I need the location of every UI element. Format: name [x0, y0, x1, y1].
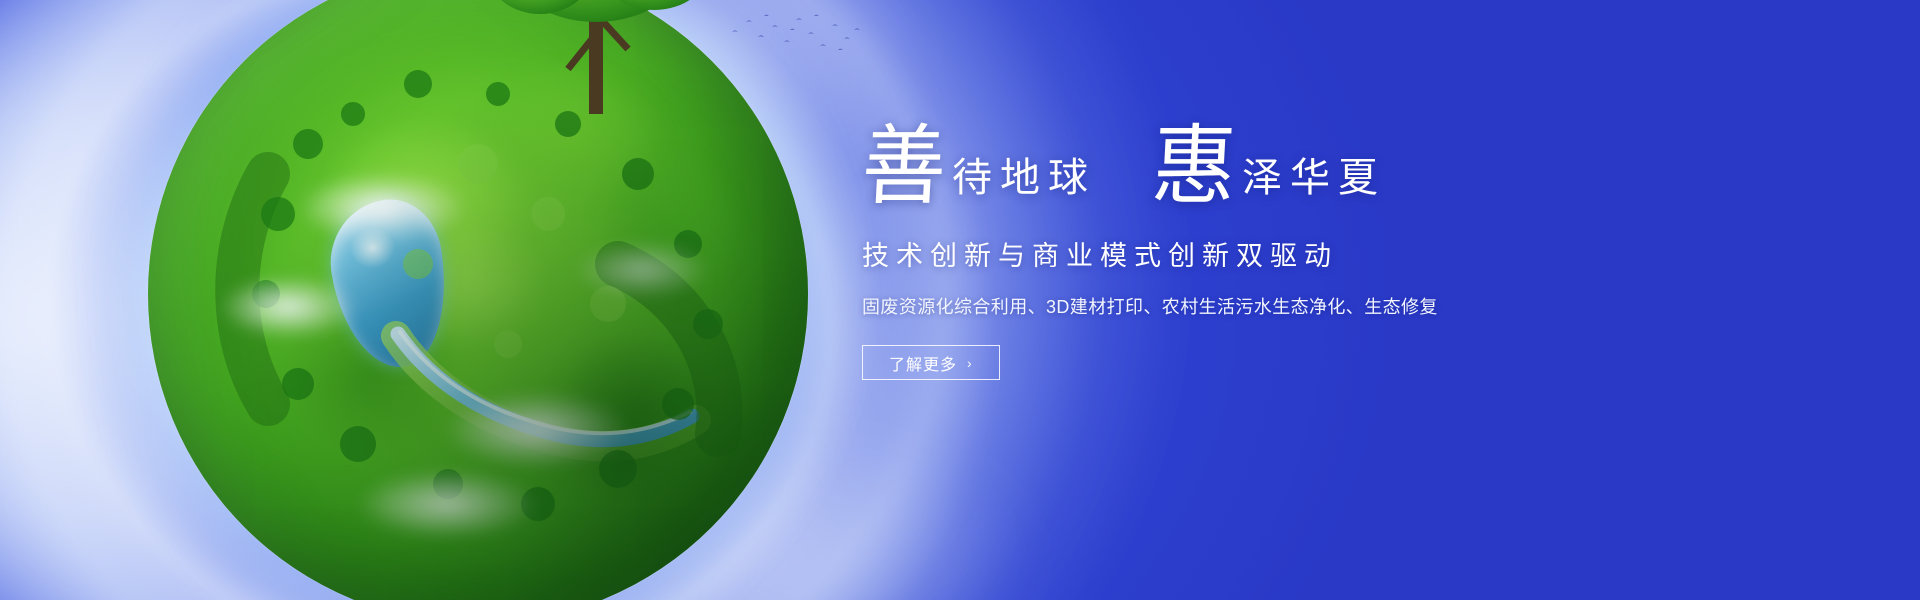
learn-more-label: 了解更多 [889, 351, 957, 375]
planet-cloud [268, 160, 498, 256]
chevron-right-icon: › [967, 356, 973, 370]
page-title: 善 待地球 惠 泽华夏 [862, 120, 1842, 204]
bird-flock-icon [728, 12, 868, 58]
hero-banner: 善 待地球 惠 泽华夏 技术创新与商业模式创新双驱动 固废资源化综合利用、3D建… [0, 0, 1920, 600]
planet-cloud [412, 378, 662, 482]
headline-char-hui: 惠 [1150, 124, 1239, 211]
banner-subtitle: 技术创新与商业模式创新双驱动 [862, 234, 1842, 273]
learn-more-button[interactable]: 了解更多 › [862, 345, 1000, 380]
grass-patch [228, 264, 508, 494]
headline-text-daidiqiu: 待地球 [952, 158, 1096, 198]
grass-patch [508, 294, 768, 544]
planet-cloud [194, 264, 384, 350]
grass-patch [278, 84, 578, 314]
planet-cloud [328, 458, 568, 550]
tiny-planet-illustration [148, 0, 808, 600]
grass-patch [568, 124, 768, 334]
headline-char-shan: 善 [860, 124, 949, 211]
planet-cloud [552, 232, 732, 308]
grass-patch [358, 194, 578, 374]
banner-description: 固废资源化综合利用、3D建材打印、农村生活污水生态净化、生态修复 [862, 293, 1842, 319]
headline-text-zehuaxia: 泽华夏 [1242, 158, 1386, 198]
banner-content: 善 待地球 惠 泽华夏 技术创新与商业模式创新双驱动 固废资源化综合利用、3D建… [862, 120, 1842, 380]
lake [322, 192, 459, 375]
hero-tree-icon [448, 0, 748, 114]
